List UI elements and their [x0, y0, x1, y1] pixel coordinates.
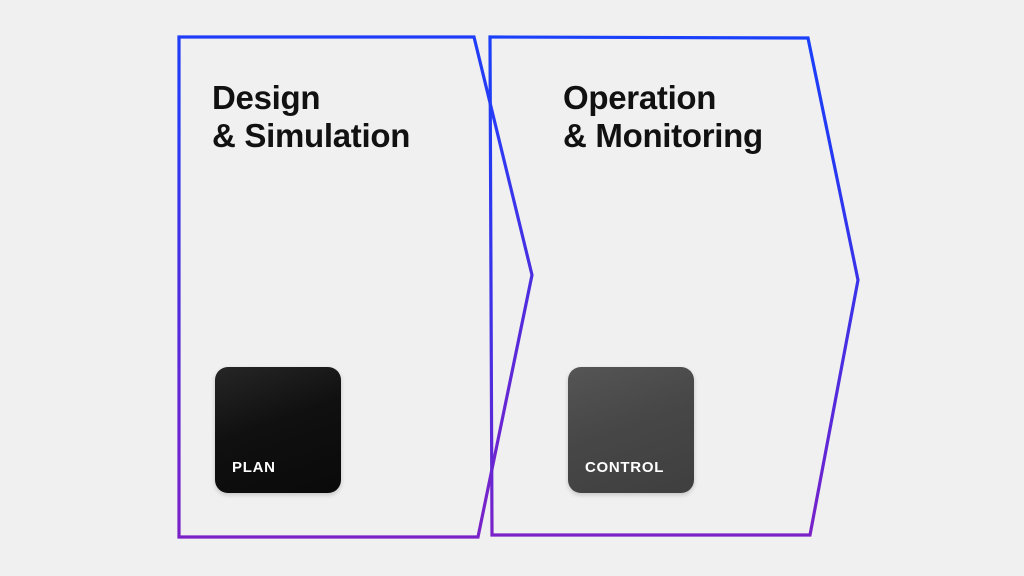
- diagram-canvas: Design & Simulation Operation & Monitori…: [0, 0, 1024, 576]
- panel-heading-operation-monitoring: Operation & Monitoring: [563, 79, 763, 155]
- tile-plan[interactable]: PLAN: [215, 367, 341, 493]
- tile-plan-label: PLAN: [232, 459, 276, 476]
- tile-control-label: CONTROL: [585, 459, 664, 476]
- tile-control[interactable]: CONTROL: [568, 367, 694, 493]
- panel-outlines-group: [0, 0, 1024, 576]
- panel-heading-design-simulation: Design & Simulation: [212, 79, 410, 155]
